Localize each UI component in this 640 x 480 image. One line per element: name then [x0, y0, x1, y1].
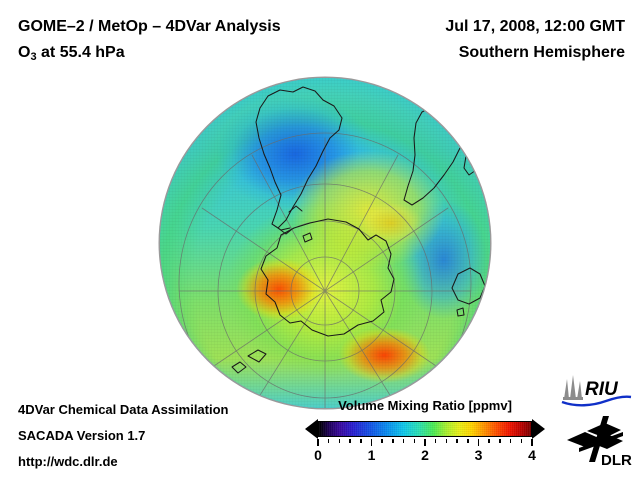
colorbar-minor-tick [381, 439, 383, 443]
timestamp-label: Jul 17, 2008, 12:00 GMT [445, 18, 625, 36]
colorbar-minor-tick [456, 439, 458, 443]
colorbar-minor-tick [328, 439, 330, 443]
colorbar-minor-tick [435, 439, 437, 443]
colorbar-tick-label: 3 [475, 447, 483, 463]
footer-url-link[interactable]: http://wdc.dlr.de [18, 454, 118, 469]
colorbar-minor-tick [414, 439, 416, 443]
colorbar-tick-labels: 01234 [318, 447, 532, 465]
colorbar-minor-tick [521, 439, 523, 443]
colorbar-tick-label: 2 [421, 447, 429, 463]
riu-logo-text: RIU [585, 379, 619, 400]
species-level: at 55.4 hPa [37, 44, 125, 61]
colorbar-major-tick [371, 439, 373, 446]
footer-version-label: SACADA Version 1.7 [18, 428, 145, 443]
dlr-logo-text: DLR [601, 452, 632, 468]
colorbar-minor-tick [339, 439, 341, 443]
colorbar-gradient [318, 421, 532, 437]
colorbar-tick-label: 4 [528, 447, 536, 463]
globe-disc [160, 78, 490, 408]
colorbar-bar [300, 419, 550, 439]
colorbar-major-tick [531, 439, 533, 446]
riu-logo: RIU [558, 373, 634, 407]
colorbar-dither [319, 422, 531, 436]
dlr-logo: DLR [565, 412, 635, 468]
colorbar-major-tick [424, 439, 426, 446]
coastlines [160, 78, 490, 408]
colorbar-minor-tick [392, 439, 394, 443]
colorbar-major-tick [478, 439, 480, 446]
species-subtitle: O3 at 55.4 hPa [18, 44, 125, 63]
colorbar-minor-tick [349, 439, 351, 443]
colorbar-ticks [318, 439, 532, 446]
colorbar-minor-tick [499, 439, 501, 443]
colorbar-minor-tick [360, 439, 362, 443]
colorbar: Volume Mixing Ratio [ppmv] 01234 [300, 398, 550, 465]
colorbar-tick-label: 1 [368, 447, 376, 463]
page-title: GOME–2 / MetOp – 4DVar Analysis [18, 18, 281, 36]
colorbar-title: Volume Mixing Ratio [ppmv] [300, 398, 550, 413]
colorbar-left-arrow-icon [305, 419, 318, 439]
species-symbol: O [18, 44, 30, 61]
colorbar-minor-tick [403, 439, 405, 443]
colorbar-minor-tick [488, 439, 490, 443]
colorbar-minor-tick [510, 439, 512, 443]
colorbar-tick-label: 0 [314, 447, 322, 463]
footer-project-label: 4DVar Chemical Data Assimilation [18, 402, 229, 417]
colorbar-major-tick [317, 439, 319, 446]
globe-map [160, 78, 490, 408]
colorbar-minor-tick [446, 439, 448, 443]
colorbar-minor-tick [467, 439, 469, 443]
region-label: Southern Hemisphere [459, 44, 625, 62]
colorbar-right-arrow-icon [532, 419, 545, 439]
